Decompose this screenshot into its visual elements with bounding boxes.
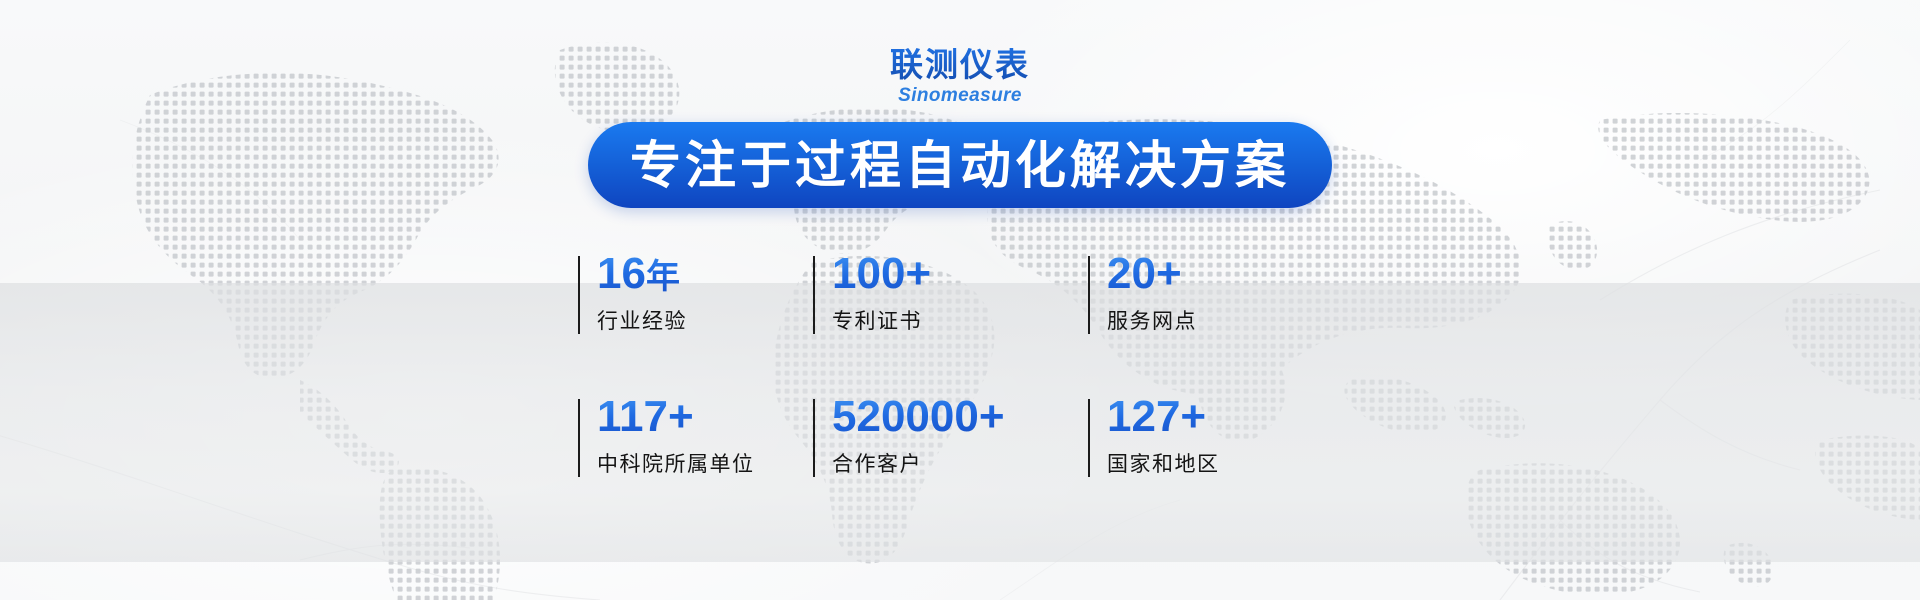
stat-rule (813, 399, 815, 477)
stat-rule (1088, 256, 1090, 334)
brand-logo: 联测仪表 Sinomeasure (0, 48, 1920, 105)
stat-value: 100+ (832, 252, 1088, 297)
stats-grid: 16年 行业经验 100+ 专利证书 20+ 服务网点 117+ 中科院所属单位 (578, 252, 1284, 478)
brand-name-cn: 联测仪表 (0, 48, 1920, 81)
stat-suffix: + (668, 392, 694, 441)
headline-pill-wrap: 专注于过程自动化解决方案 (0, 122, 1920, 208)
stat-item: 20+ 服务网点 (1088, 252, 1323, 335)
stat-label: 合作客户 (832, 448, 1088, 478)
stat-suffix: 年 (646, 258, 680, 296)
stat-value: 520000+ (832, 395, 1088, 440)
stat-suffix: + (905, 249, 931, 298)
stats-row: 16年 行业经验 100+ 专利证书 20+ 服务网点 (578, 252, 1284, 335)
stat-item: 117+ 中科院所属单位 (578, 395, 813, 478)
stat-label: 行业经验 (597, 305, 813, 335)
stat-rule (1088, 399, 1090, 477)
stat-suffix: + (1156, 249, 1182, 298)
stat-rule (578, 256, 580, 334)
stat-value: 127+ (1107, 395, 1323, 440)
headline-pill: 专注于过程自动化解决方案 (588, 122, 1332, 208)
stat-value: 20+ (1107, 252, 1323, 297)
stat-label: 中科院所属单位 (597, 448, 813, 478)
stat-label: 服务网点 (1107, 305, 1323, 335)
stat-item: 100+ 专利证书 (813, 252, 1088, 335)
stat-item: 520000+ 合作客户 (813, 395, 1088, 478)
stat-value: 16年 (597, 252, 813, 297)
stat-suffix: + (979, 392, 1005, 441)
stat-item: 16年 行业经验 (578, 252, 813, 335)
stat-label: 国家和地区 (1107, 448, 1323, 478)
stat-suffix: + (1180, 392, 1206, 441)
stat-rule (813, 256, 815, 334)
stats-row: 117+ 中科院所属单位 520000+ 合作客户 127+ 国家和地区 (578, 395, 1284, 478)
stat-rule (578, 399, 580, 477)
stat-label: 专利证书 (832, 305, 1088, 335)
brand-name-en: Sinomeasure (0, 86, 1920, 105)
stat-item: 127+ 国家和地区 (1088, 395, 1323, 478)
banner-stage: 联测仪表 Sinomeasure 专注于过程自动化解决方案 16年 行业经验 1… (0, 0, 1920, 600)
headline-text: 专注于过程自动化解决方案 (630, 140, 1290, 191)
stat-value: 117+ (597, 395, 813, 440)
